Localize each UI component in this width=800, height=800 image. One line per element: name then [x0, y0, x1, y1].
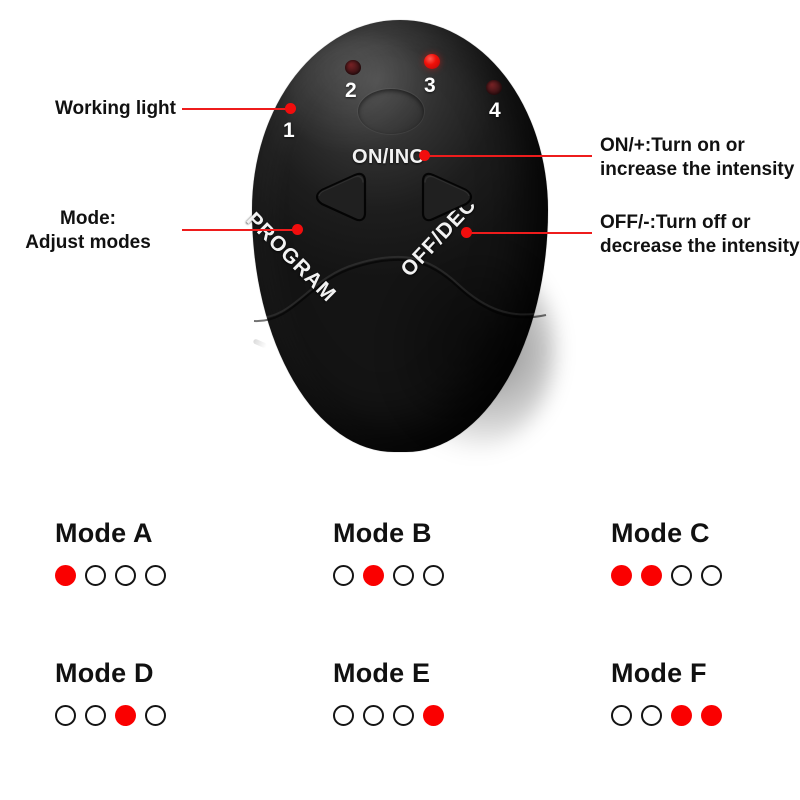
mode-dot-2-empty — [363, 705, 384, 726]
device-seam-notch — [253, 338, 268, 348]
mode-title: Mode D — [55, 658, 315, 689]
mode-dot-2-empty — [641, 705, 662, 726]
mode-title: Mode A — [55, 518, 315, 549]
mode-dot-4-filled — [423, 705, 444, 726]
leader-dot-mode — [292, 224, 303, 235]
mode-dot-3-empty — [115, 565, 136, 586]
mode-title: Mode F — [611, 658, 800, 689]
oval-recess — [357, 88, 425, 135]
led-number-3: 3 — [424, 74, 436, 98]
led-indicator-2 — [345, 60, 361, 75]
mode-dots — [611, 705, 800, 726]
mode-dot-2-filled — [363, 565, 384, 586]
mode-dot-4-empty — [701, 565, 722, 586]
mode-dots — [333, 565, 593, 586]
engraved-label-on-inc: ON/INC — [352, 146, 424, 169]
led-number-4: 4 — [489, 99, 501, 123]
mode-title: Mode C — [611, 518, 800, 549]
led-indicator-4 — [486, 80, 502, 95]
leader-dot-working-light — [285, 103, 296, 114]
mode-dots — [611, 565, 800, 586]
leader-line-mode — [182, 229, 298, 231]
leader-line-off-dec — [466, 232, 592, 234]
right-triangle-button[interactable] — [419, 170, 477, 224]
mode-dot-1-empty — [333, 705, 354, 726]
mode-legend: Mode A Mode B Mode C Mode D Mode E Mode … — [0, 500, 800, 800]
callout-off-dec: OFF/-:Turn off or decrease the intensity — [600, 211, 800, 260]
mode-dots — [55, 565, 315, 586]
mode-item-d: Mode D — [55, 658, 315, 726]
mode-dot-1-filled — [611, 565, 632, 586]
led-number-1: 1 — [283, 119, 295, 143]
mode-item-a: Mode A — [55, 518, 315, 586]
device-body — [252, 20, 548, 452]
mode-item-f: Mode F — [611, 658, 800, 726]
mode-title: Mode E — [333, 658, 593, 689]
mode-dot-2-filled — [641, 565, 662, 586]
left-triangle-button[interactable] — [311, 170, 369, 224]
leader-line-working-light — [182, 108, 292, 110]
mode-dots — [55, 705, 315, 726]
mode-dot-3-filled — [115, 705, 136, 726]
mode-dot-1-empty — [611, 705, 632, 726]
mode-dot-1-empty — [55, 705, 76, 726]
mode-dot-4-empty — [145, 705, 166, 726]
callout-mode: Mode: Adjust modes — [0, 207, 176, 256]
mode-dot-1-empty — [333, 565, 354, 586]
mode-item-b: Mode B — [333, 518, 593, 586]
mode-dot-4-filled — [701, 705, 722, 726]
callout-on-inc: ON/+:Turn on or increase the intensity — [600, 134, 800, 183]
mode-dot-1-filled — [55, 565, 76, 586]
mode-dot-3-filled — [671, 705, 692, 726]
mode-dots — [333, 705, 593, 726]
led-number-2: 2 — [345, 79, 357, 103]
callout-working-light: Working light — [0, 97, 176, 121]
mode-item-e: Mode E — [333, 658, 593, 726]
mode-dot-4-empty — [423, 565, 444, 586]
mode-dot-4-empty — [145, 565, 166, 586]
device-illustration: 2 3 4 1 ON/INC PROGRAM OFF/DEC Working l… — [0, 0, 800, 500]
leader-dot-off-dec — [461, 227, 472, 238]
leader-line-on-inc — [424, 155, 592, 157]
mode-dot-2-empty — [85, 705, 106, 726]
leader-dot-on-inc — [419, 150, 430, 161]
mode-dot-3-empty — [393, 705, 414, 726]
mode-item-c: Mode C — [611, 518, 800, 586]
mode-title: Mode B — [333, 518, 593, 549]
led-indicator-3 — [424, 54, 440, 69]
mode-dot-2-empty — [85, 565, 106, 586]
mode-dot-3-empty — [671, 565, 692, 586]
mode-dot-3-empty — [393, 565, 414, 586]
